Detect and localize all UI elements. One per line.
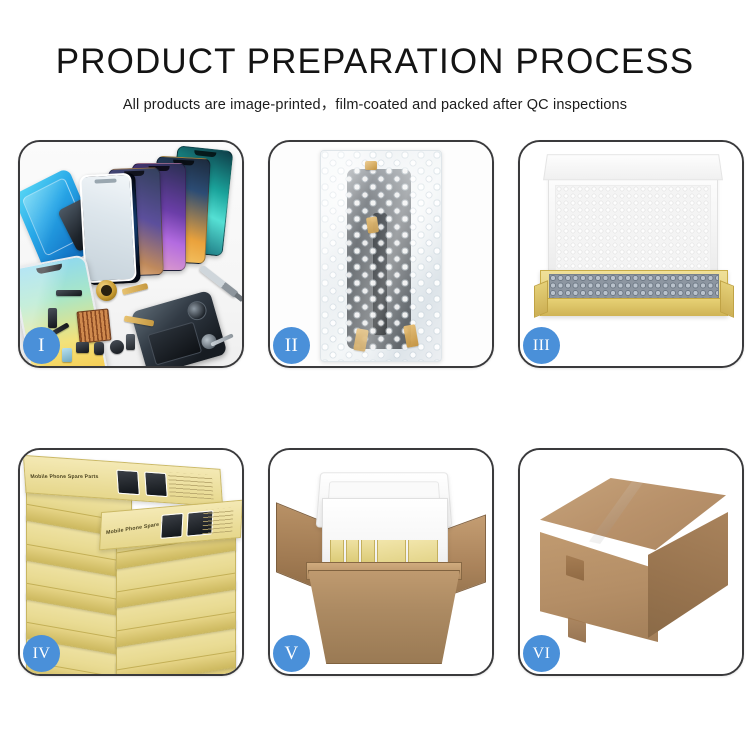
header: PRODUCT PREPARATION PROCESS All products… <box>0 0 750 114</box>
plastic-sheen <box>321 151 441 361</box>
step-badge-1: I <box>23 327 60 364</box>
component-chip-icon <box>76 342 89 353</box>
step-badge-6: VI <box>523 635 560 672</box>
component-chip-icon <box>56 290 82 296</box>
box-label-text: Mobile Phone Spare Parts <box>30 474 99 480</box>
component-chip-icon <box>62 348 72 362</box>
bubble-wrapped-contents <box>549 274 719 299</box>
component-chip-icon <box>94 342 104 355</box>
box-spec-lines <box>168 472 214 499</box>
battery-icon <box>147 322 202 366</box>
tray-right-corner <box>720 280 734 318</box>
process-step-card-6: VI <box>518 448 744 676</box>
kraft-tray-box-icon <box>540 270 728 316</box>
tray-front-panel <box>541 298 727 316</box>
box-spec-lines <box>202 507 233 534</box>
step-badge-3: III <box>523 327 560 364</box>
process-step-card-2: II <box>268 140 494 368</box>
step-badge-5: V <box>273 635 310 672</box>
box-window-screen-icon <box>116 469 140 495</box>
camera-module-icon <box>185 299 209 323</box>
foam-lid-icon <box>548 158 718 278</box>
product-preparation-infographic: PRODUCT PREPARATION PROCESS All products… <box>0 0 750 750</box>
bubble-bag-icon <box>320 150 442 362</box>
component-chip-icon <box>110 340 124 354</box>
page-subtitle: All products are image-printed，film-coat… <box>0 79 750 114</box>
carton-body <box>308 570 460 664</box>
process-step-card-5: V <box>268 448 494 676</box>
page-title: PRODUCT PREPARATION PROCESS <box>0 0 750 79</box>
process-step-card-3: III <box>518 140 744 368</box>
process-step-card-1: I <box>18 140 244 368</box>
copper-mesh-icon <box>76 308 111 343</box>
step-badge-4: IV <box>23 635 60 672</box>
process-steps-grid: I <box>18 140 744 676</box>
step-badge-2: II <box>273 327 310 364</box>
tray-left-corner <box>534 280 548 318</box>
foam-sheet-texture <box>555 185 711 273</box>
process-step-card-4: Mobile Phone Spare Parts Mobile Phone Sp… <box>18 448 244 676</box>
component-chip-icon <box>126 334 135 350</box>
box-window-screen-icon <box>144 471 168 497</box>
speaker-coil-icon <box>96 280 117 301</box>
bubble-wrap-package <box>320 150 442 362</box>
notch-icon <box>194 150 216 157</box>
component-chip-icon <box>48 308 57 328</box>
box-window-screen-icon <box>160 513 183 539</box>
